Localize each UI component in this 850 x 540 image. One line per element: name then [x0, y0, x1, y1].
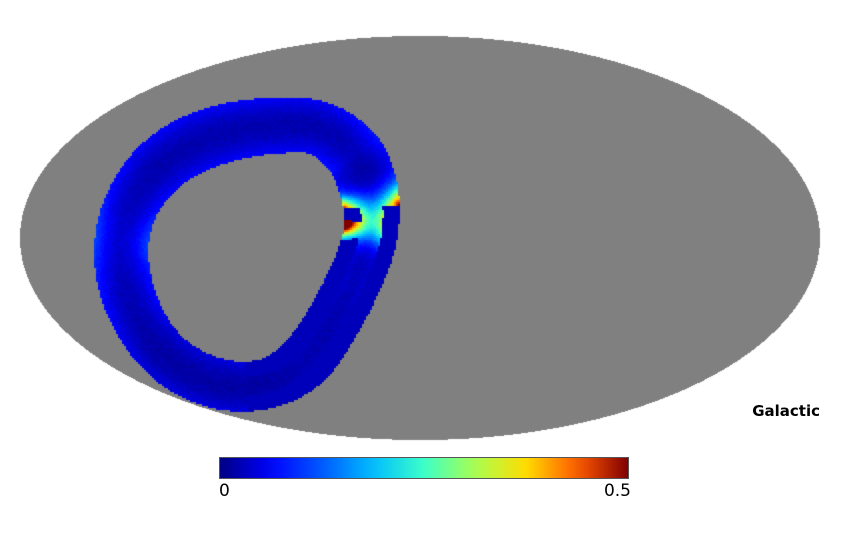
- colorbar: [219, 457, 631, 481]
- colorbar-max-label: 0.5: [560, 481, 631, 501]
- colorbar-min-label: 0: [219, 481, 230, 501]
- sky-map-figure: I Stokes Galactic 0 0.5: [0, 0, 850, 540]
- colorbar-gradient: [219, 457, 629, 479]
- coordinate-system-label: Galactic: [752, 402, 820, 420]
